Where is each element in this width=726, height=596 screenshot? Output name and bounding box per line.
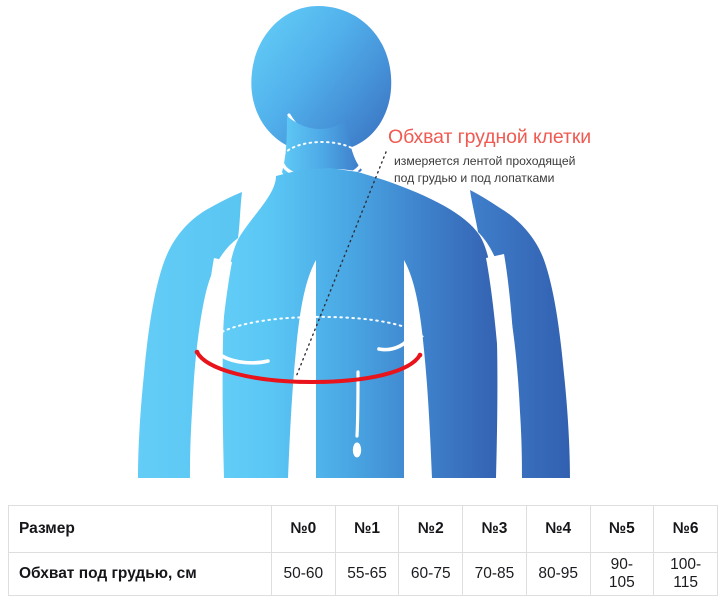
figure-svg (0, 0, 726, 500)
column-header-3: №3 (463, 506, 527, 553)
table-row-measurement: Обхват под грудью, см 50-60 55-65 60-75 … (9, 553, 718, 596)
body-figure-illustration (0, 0, 726, 500)
column-header-2: №2 (399, 506, 463, 553)
column-header-6: №6 (654, 506, 718, 553)
column-header-1: №1 (335, 506, 399, 553)
chest-measure-band-end-left (195, 350, 200, 355)
torso-shape (223, 168, 498, 478)
value-size-1: 55-65 (335, 553, 399, 596)
annotation-subtitle: измеряется лентой проходящей под грудью … (388, 153, 628, 186)
chest-measure-band-end-right (418, 353, 423, 358)
column-header-5: №5 (590, 506, 654, 553)
row-label-chest-circumference: Обхват под грудью, см (9, 553, 272, 596)
column-header-4: №4 (526, 506, 590, 553)
value-size-4: 80-95 (526, 553, 590, 596)
value-size-0: 50-60 (272, 553, 336, 596)
row-label-size: Размер (9, 506, 272, 553)
value-size-6: 100-115 (654, 553, 718, 596)
size-chart-table: Размер №0 №1 №2 №3 №4 №5 №6 Обхват под г… (8, 505, 718, 596)
table-row-header: Размер №0 №1 №2 №3 №4 №5 №6 (9, 506, 718, 553)
measurement-annotation: Обхват грудной клетки измеряется лентой … (388, 126, 628, 186)
annotation-subtitle-line1: измеряется лентой проходящей (394, 153, 628, 170)
value-size-2: 60-75 (399, 553, 463, 596)
navel-mark (353, 443, 361, 458)
column-header-0: №0 (272, 506, 336, 553)
annotation-subtitle-line2: под грудью и под лопатками (394, 170, 628, 187)
annotation-title: Обхват грудной клетки (388, 126, 628, 149)
value-size-5: 90-105 (590, 553, 654, 596)
value-size-3: 70-85 (463, 553, 527, 596)
size-table-container: Размер №0 №1 №2 №3 №4 №5 №6 Обхват под г… (8, 505, 718, 596)
